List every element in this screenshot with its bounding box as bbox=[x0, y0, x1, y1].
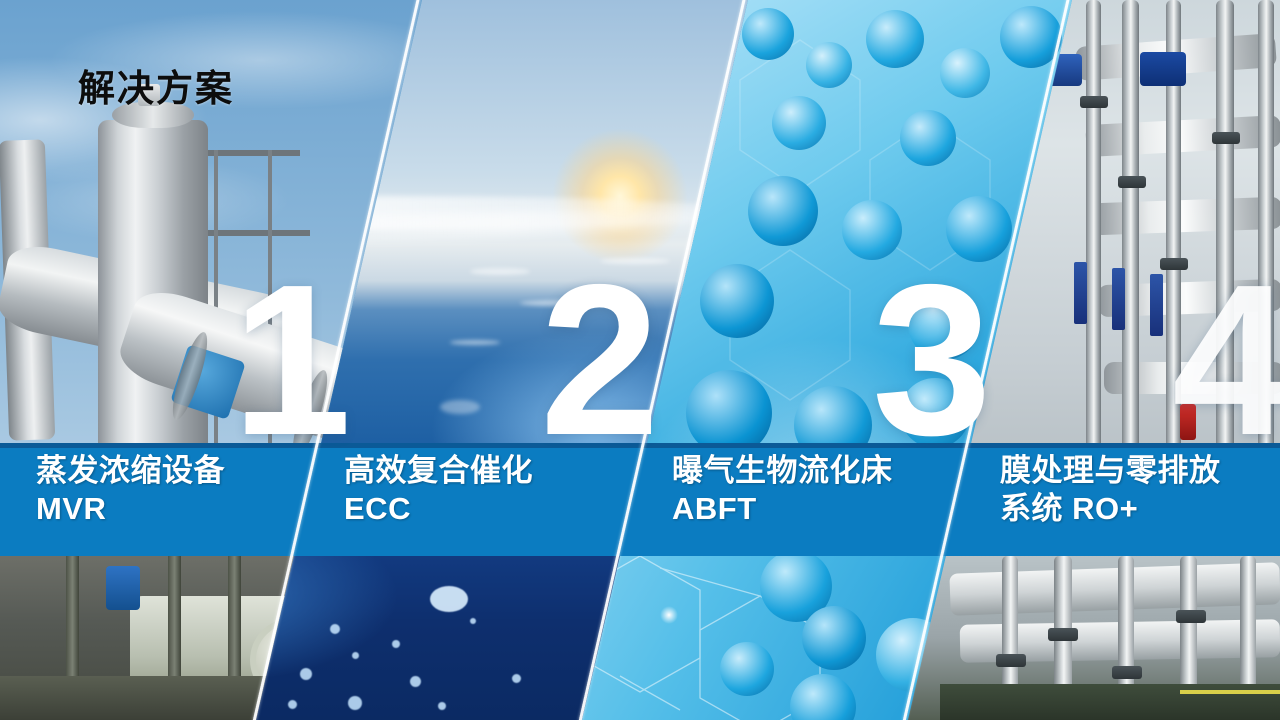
panel-number-2: 2 bbox=[540, 252, 656, 467]
bottom-panel-1 bbox=[0, 556, 300, 720]
bottom-image-strip bbox=[0, 556, 1280, 720]
panel-4-label-code: 系统 RO+ bbox=[1000, 490, 1272, 528]
page-title: 解决方案 bbox=[78, 58, 234, 112]
panel-number-4: 4 bbox=[1172, 252, 1280, 467]
panel-1-label-code: MVR bbox=[36, 490, 306, 528]
panel-3-label-code: ABFT bbox=[672, 490, 962, 528]
panel-number-1: 1 bbox=[232, 252, 348, 467]
panel-2-label-code: ECC bbox=[344, 490, 624, 528]
infographic-stage: 1 2 3 4 蒸发浓缩设备 MVR 高效复合催化 ECC 曝气生物流化床 AB… bbox=[0, 0, 1280, 720]
